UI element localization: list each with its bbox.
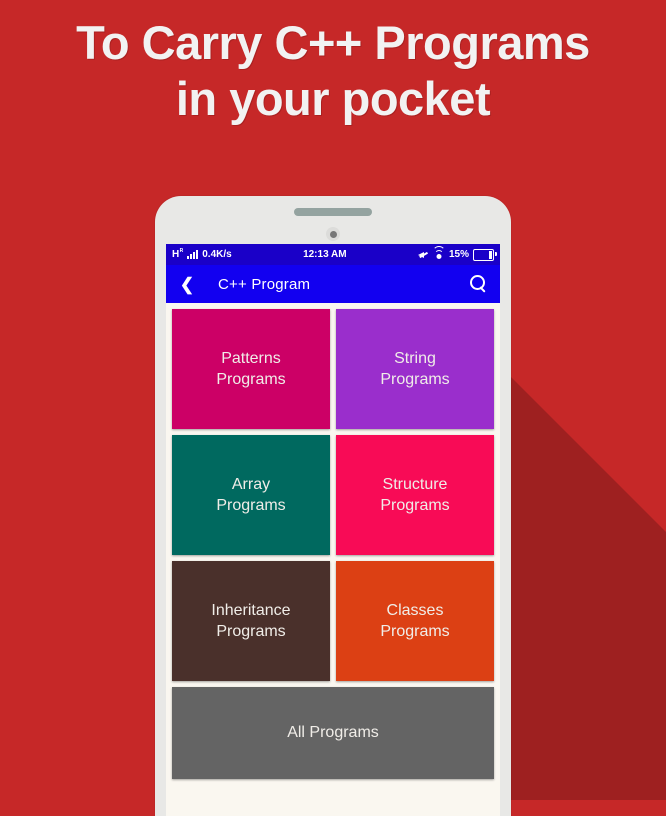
tile-label-line1: Patterns xyxy=(216,348,285,369)
status-bar: HR 0.4K/s 12:13 AM 15% xyxy=(166,244,500,265)
search-icon[interactable] xyxy=(468,274,488,294)
app-bar: ❮ C++ Program xyxy=(166,265,500,303)
app-bar-title: C++ Program xyxy=(218,276,468,293)
tile-patterns-programs[interactable]: Patterns Programs xyxy=(172,309,330,429)
tile-inheritance-programs[interactable]: Inheritance Programs xyxy=(172,561,330,681)
data-speed-label: 0.4K/s xyxy=(202,249,231,260)
phone-top-bezel xyxy=(155,196,511,248)
tile-label-line2: Programs xyxy=(216,369,285,390)
earpiece-speaker-icon xyxy=(294,208,372,216)
tile-label-line2: Programs xyxy=(380,369,449,390)
tile-array-programs[interactable]: Array Programs xyxy=(172,435,330,555)
promo-headline-line2: in your pocket xyxy=(0,74,666,124)
tile-label-line2: Programs xyxy=(380,621,449,642)
tile-label-line1: Array xyxy=(216,474,285,495)
program-category-grid: Patterns Programs String Programs Array … xyxy=(166,303,500,779)
tile-classes-programs[interactable]: Classes Programs xyxy=(336,561,494,681)
phone-screen: HR 0.4K/s 12:13 AM 15% ❮ C++ Prog xyxy=(166,244,500,816)
tile-structure-programs[interactable]: Structure Programs xyxy=(336,435,494,555)
phone-mockup: HR 0.4K/s 12:13 AM 15% ❮ C++ Prog xyxy=(155,196,511,816)
tile-label-line2: Programs xyxy=(211,621,290,642)
wifi-icon xyxy=(433,250,445,260)
mute-icon xyxy=(418,250,429,260)
back-button[interactable]: ❮ xyxy=(178,275,196,293)
tile-label-line1: Structure xyxy=(380,474,449,495)
status-bar-left: HR 0.4K/s xyxy=(172,249,232,260)
tile-label-line2: Programs xyxy=(216,495,285,516)
tile-string-programs[interactable]: String Programs xyxy=(336,309,494,429)
tile-label-line1: String xyxy=(380,348,449,369)
front-camera-icon xyxy=(326,227,340,241)
tile-label-line1: Classes xyxy=(380,600,449,621)
status-bar-clock: 12:13 AM xyxy=(232,249,418,260)
tile-all-programs[interactable]: All Programs xyxy=(172,687,494,779)
battery-icon xyxy=(473,249,494,261)
promo-headline: To Carry C++ Programs in your pocket xyxy=(0,18,666,124)
promo-headline-line1: To Carry C++ Programs xyxy=(0,18,666,68)
tile-label-line1: All Programs xyxy=(287,722,379,743)
network-type-icon: HR xyxy=(172,250,179,260)
battery-percent-label: 15% xyxy=(449,249,469,260)
tile-label-line2: Programs xyxy=(380,495,449,516)
tile-label-line1: Inheritance xyxy=(211,600,290,621)
status-bar-right: 15% xyxy=(418,249,494,261)
signal-bars-icon xyxy=(187,250,198,259)
